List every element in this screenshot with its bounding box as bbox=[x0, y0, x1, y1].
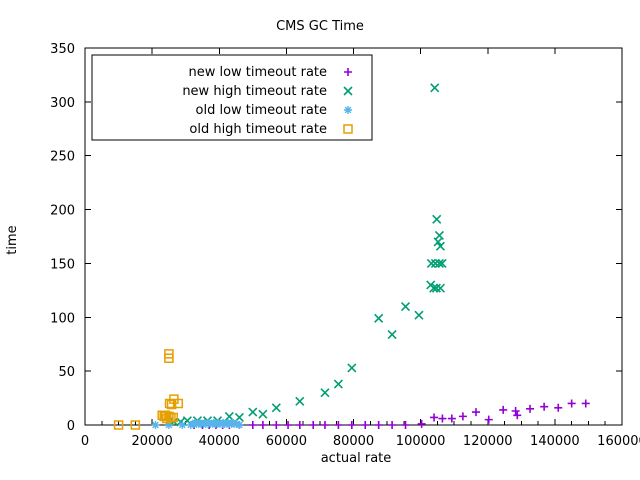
x-tick-label: 120000 bbox=[463, 434, 513, 449]
x-tick-label: 140000 bbox=[530, 434, 580, 449]
chart-container: CMS GC Time 0200004000060000800001000001… bbox=[0, 0, 640, 480]
cms-gc-time-scatter-plot: CMS GC Time 0200004000060000800001000001… bbox=[0, 0, 640, 480]
x-tick-label: 60000 bbox=[266, 434, 307, 449]
x-tick-label: 80000 bbox=[333, 434, 374, 449]
y-tick-label: 150 bbox=[50, 257, 75, 272]
y-tick-label: 300 bbox=[50, 96, 75, 111]
legend-item-label: old high timeout rate bbox=[189, 122, 327, 137]
y-tick-label: 0 bbox=[67, 419, 75, 434]
y-tick-label: 100 bbox=[50, 311, 75, 326]
data-point bbox=[178, 421, 186, 429]
data-point bbox=[229, 419, 237, 427]
y-tick-label: 200 bbox=[50, 204, 75, 219]
x-tick-label: 20000 bbox=[131, 434, 172, 449]
x-axis-label: actual rate bbox=[321, 451, 392, 466]
legend-item-label: old low timeout rate bbox=[196, 103, 327, 118]
data-point bbox=[151, 421, 159, 429]
chart-title: CMS GC Time bbox=[276, 19, 364, 34]
x-tick-label: 100000 bbox=[396, 434, 446, 449]
x-tick-label: 160000 bbox=[597, 434, 640, 449]
y-tick-label: 350 bbox=[50, 42, 75, 57]
chart-legend: new low timeout ratenew high timeout rat… bbox=[92, 55, 372, 140]
y-tick-label: 250 bbox=[50, 150, 75, 165]
y-axis-label: time bbox=[5, 225, 20, 254]
legend-item-label: new low timeout rate bbox=[188, 65, 327, 80]
x-tick-label: 0 bbox=[81, 434, 89, 449]
legend-item-label: new high timeout rate bbox=[182, 84, 327, 99]
x-tick-label: 40000 bbox=[199, 434, 240, 449]
y-tick-label: 50 bbox=[58, 365, 75, 380]
legend-marker-star bbox=[344, 106, 352, 114]
